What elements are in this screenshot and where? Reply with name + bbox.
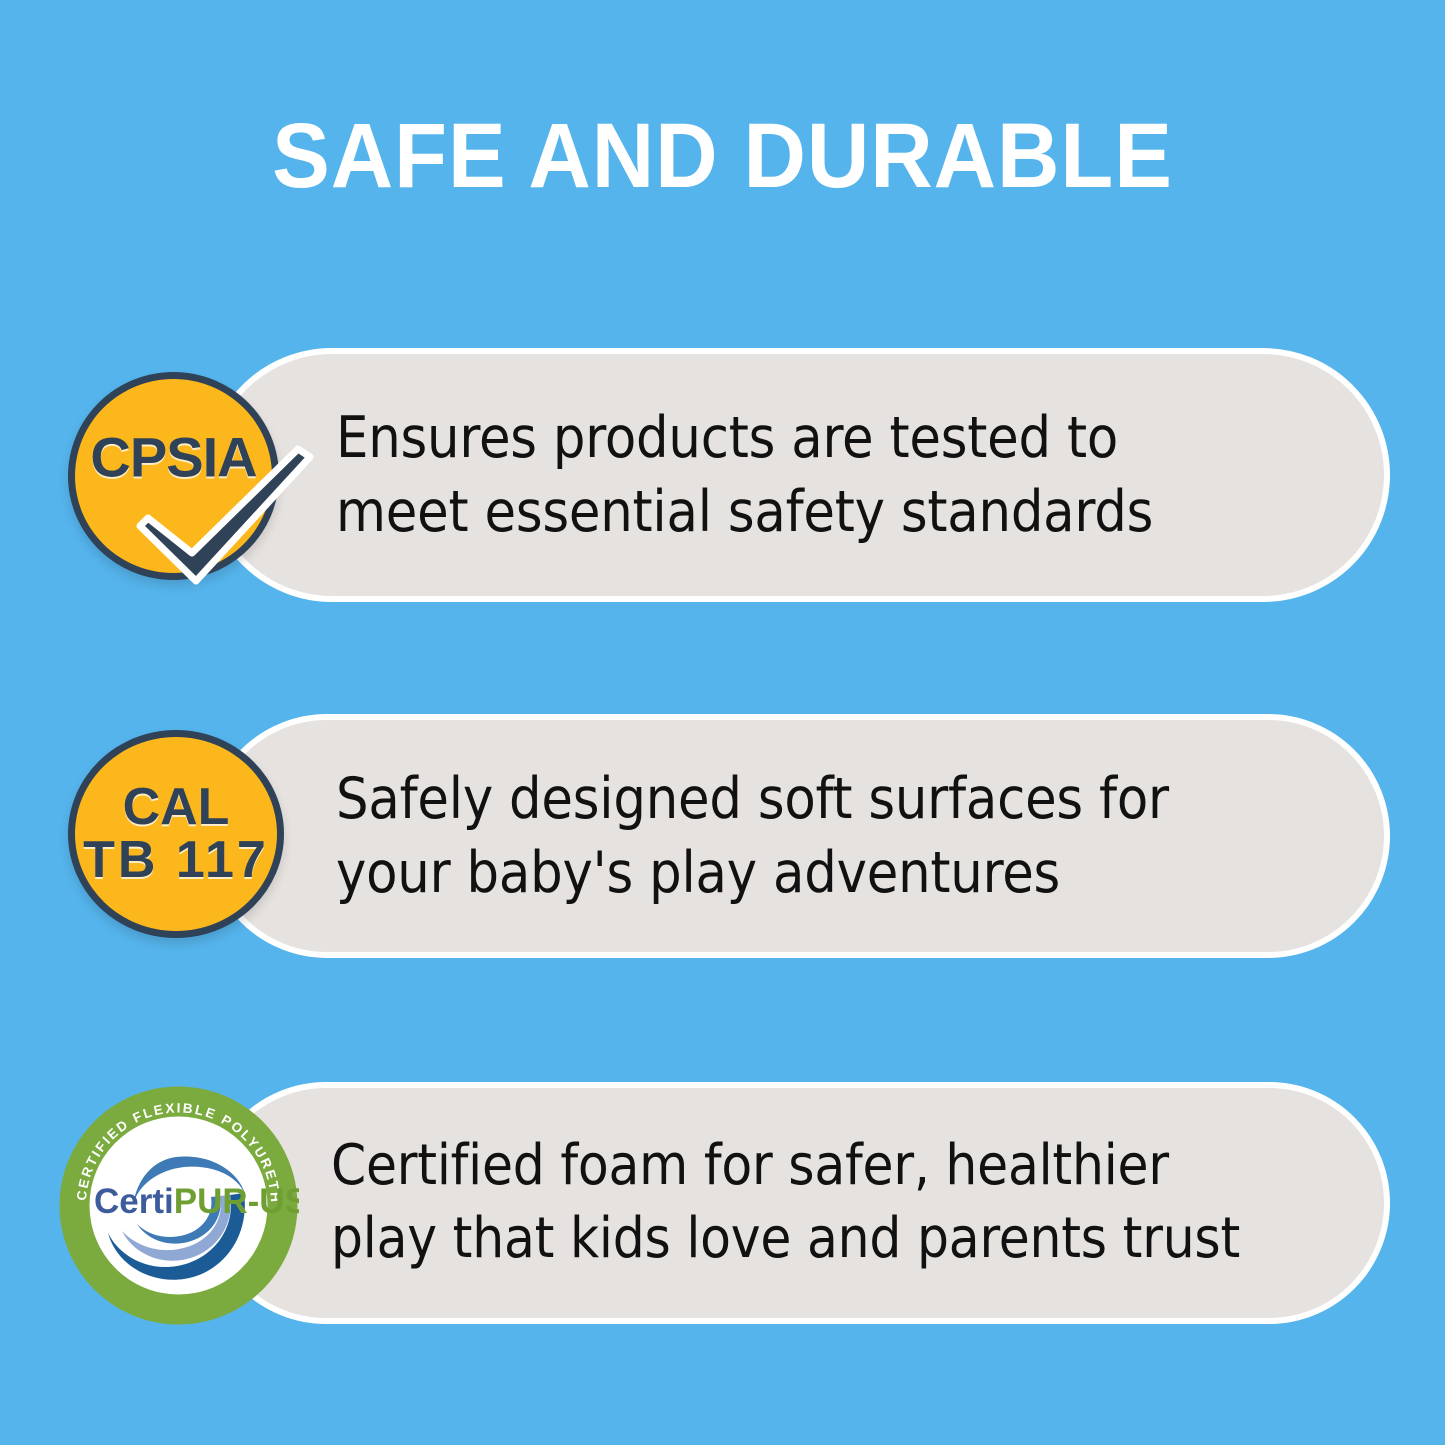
feature-line: meet essential safety standards — [336, 475, 1324, 549]
cal-tb-117-badge-line: CAL — [75, 781, 277, 834]
feature-line: Ensures products are tested to — [336, 401, 1324, 475]
certipur-us-seal-icon: CONTAINS CERTIFIED FLEXIBLE POLYURETHANE… — [58, 1085, 299, 1326]
feature-line: Safely designed soft surfaces for — [336, 762, 1324, 836]
feature-line: play that kids love and parents trust — [331, 1203, 1324, 1276]
safe-and-durable-infographic: SAFE AND DURABLE Ensures products are te… — [0, 0, 1445, 1445]
page-title: SAFE AND DURABLE — [43, 110, 1401, 202]
feature-card-cpsia-text: Ensures products are tested to meet esse… — [336, 401, 1324, 549]
feature-card-certipur-us-text: Certified foam for safer, healthier play… — [331, 1130, 1324, 1276]
cal-tb-117-badge-line: TB 117 — [75, 834, 277, 887]
check-icon — [130, 441, 320, 591]
feature-card-cal-tb-117: Safely designed soft surfaces for your b… — [205, 714, 1390, 958]
cal-tb-117-badge: CAL TB 117 — [68, 730, 284, 938]
cal-tb-117-badge-label: CAL TB 117 — [75, 781, 277, 887]
feature-card-cal-tb-117-text: Safely designed soft surfaces for your b… — [336, 762, 1324, 910]
certipur-us-badge: CONTAINS CERTIFIED FLEXIBLE POLYURETHANE… — [58, 1085, 299, 1326]
cpsia-badge: CPSIA — [68, 372, 279, 580]
feature-line: your baby's play adventures — [336, 836, 1324, 910]
feature-card-certipur-us: Certified foam for safer, healthier play… — [205, 1082, 1390, 1324]
feature-line: Certified foam for safer, healthier — [331, 1130, 1324, 1203]
feature-card-cpsia: Ensures products are tested to meet esse… — [205, 348, 1390, 602]
certipur-wordmark: CertiPUR-US® — [94, 1182, 299, 1221]
